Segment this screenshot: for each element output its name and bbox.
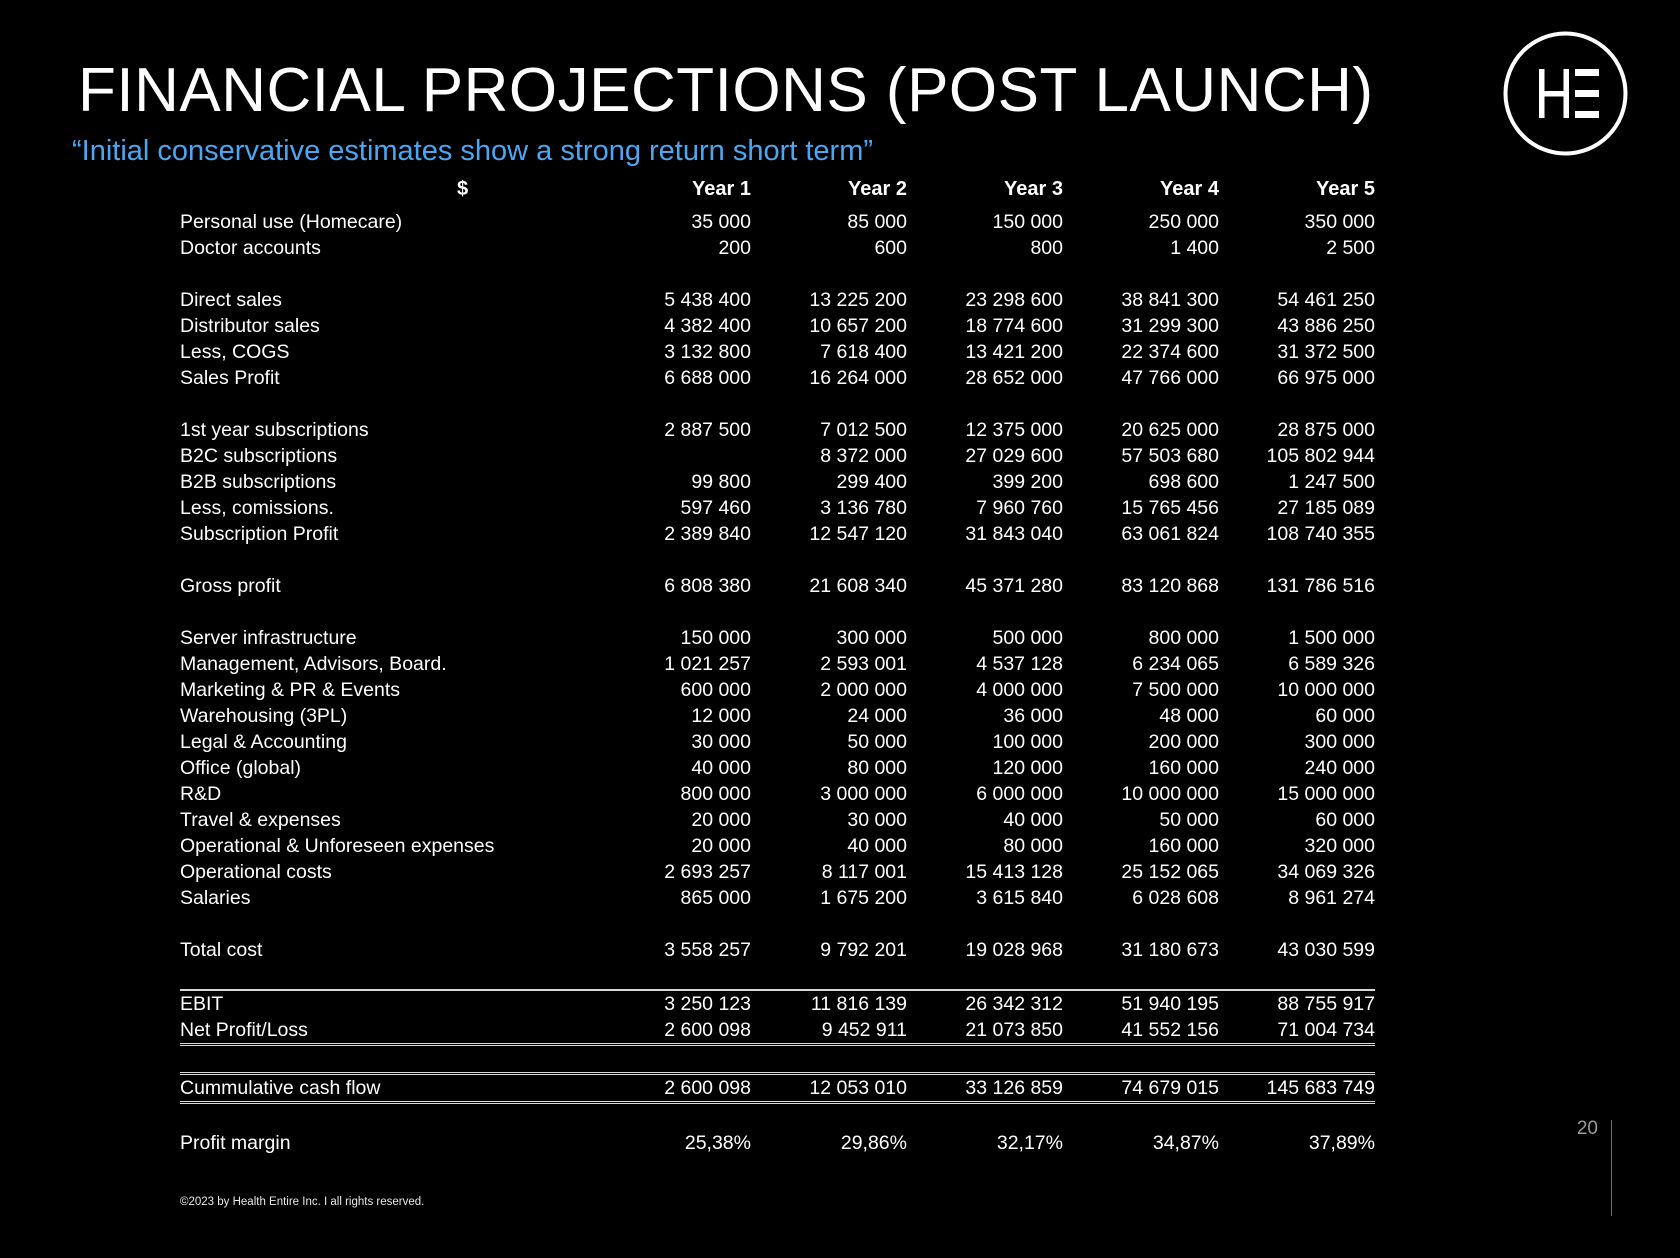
cell-year-3: 18 774 600 bbox=[907, 313, 1063, 339]
row-label: Management, Advisors, Board. bbox=[180, 651, 595, 677]
page-number-divider bbox=[1611, 1120, 1612, 1216]
table-row-operational-costs: Operational costs 2 693 257 8 117 001 15… bbox=[180, 859, 1375, 885]
table-row: Direct sales 5 438 400 13 225 200 23 298… bbox=[180, 287, 1375, 313]
row-label: Server infrastructure bbox=[180, 625, 595, 651]
cell-year-2: 7 012 500 bbox=[751, 417, 907, 443]
cell-year-1: 4 382 400 bbox=[595, 313, 751, 339]
table-row: Legal & Accounting 30 000 50 000 100 000… bbox=[180, 729, 1375, 755]
cell-year-5: 60 000 bbox=[1219, 703, 1375, 729]
cell-year-1: 3 132 800 bbox=[595, 339, 751, 365]
cell-year-3: 500 000 bbox=[907, 625, 1063, 651]
row-label: Gross profit bbox=[180, 573, 595, 599]
table-row-net-profit-loss: Net Profit/Loss 2 600 098 9 452 911 21 0… bbox=[180, 1017, 1375, 1045]
row-label: Personal use (Homecare) bbox=[180, 209, 595, 235]
row-label: Operational costs bbox=[180, 859, 595, 885]
cell-year-4: 48 000 bbox=[1063, 703, 1219, 729]
cell-year-5: 34 069 326 bbox=[1219, 859, 1375, 885]
cell-year-3: 3 615 840 bbox=[907, 885, 1063, 911]
cell-year-5: 10 000 000 bbox=[1219, 677, 1375, 703]
cell-year-5: 27 185 089 bbox=[1219, 495, 1375, 521]
cell-year-4: 31 299 300 bbox=[1063, 313, 1219, 339]
cell-year-1: 12 000 bbox=[595, 703, 751, 729]
cell-year-2: 2 593 001 bbox=[751, 651, 907, 677]
cell-year-4: 51 940 195 bbox=[1063, 990, 1219, 1017]
cell-year-4: 47 766 000 bbox=[1063, 365, 1219, 391]
column-header-year-3: Year 3 bbox=[907, 176, 1063, 209]
cell-year-1: 865 000 bbox=[595, 885, 751, 911]
cell-year-2: 9 452 911 bbox=[751, 1017, 907, 1045]
column-header-year-2: Year 2 bbox=[751, 176, 907, 209]
cell-year-4: 800 000 bbox=[1063, 625, 1219, 651]
row-label: Marketing & PR & Events bbox=[180, 677, 595, 703]
cell-year-3: 13 421 200 bbox=[907, 339, 1063, 365]
cell-year-4: 57 503 680 bbox=[1063, 443, 1219, 469]
cell-year-4: 200 000 bbox=[1063, 729, 1219, 755]
cell-year-4: 15 765 456 bbox=[1063, 495, 1219, 521]
page-number: 20 bbox=[1577, 1118, 1598, 1140]
cell-year-5: 105 802 944 bbox=[1219, 443, 1375, 469]
cell-year-3: 23 298 600 bbox=[907, 287, 1063, 313]
cell-year-2: 300 000 bbox=[751, 625, 907, 651]
cell-year-2: 2 000 000 bbox=[751, 677, 907, 703]
cell-year-3: 19 028 968 bbox=[907, 937, 1063, 963]
cell-year-5: 28 875 000 bbox=[1219, 417, 1375, 443]
cell-year-4: 6 028 608 bbox=[1063, 885, 1219, 911]
spacer-row bbox=[180, 911, 1375, 937]
cell-year-2: 10 657 200 bbox=[751, 313, 907, 339]
row-label: Cummulative cash flow bbox=[180, 1074, 595, 1103]
cell-year-5: 31 372 500 bbox=[1219, 339, 1375, 365]
column-header-year-5: Year 5 bbox=[1219, 176, 1375, 209]
table-row: Travel & expenses 20 000 30 000 40 000 5… bbox=[180, 807, 1375, 833]
row-label: Total cost bbox=[180, 937, 595, 963]
cell-year-4: 20 625 000 bbox=[1063, 417, 1219, 443]
table-row: Operational & Unforeseen expenses 20 000… bbox=[180, 833, 1375, 859]
cell-year-4: 22 374 600 bbox=[1063, 339, 1219, 365]
cell-year-2: 8 117 001 bbox=[751, 859, 907, 885]
cell-year-2: 1 675 200 bbox=[751, 885, 907, 911]
copyright-notice: ©2023 by Health Entire Inc. I all rights… bbox=[180, 1196, 424, 1208]
cell-year-2: 8 372 000 bbox=[751, 443, 907, 469]
row-label: EBIT bbox=[180, 990, 595, 1017]
row-label: Travel & expenses bbox=[180, 807, 595, 833]
spacer-row bbox=[180, 1103, 1375, 1131]
cell-year-3: 36 000 bbox=[907, 703, 1063, 729]
cell-year-4: 1 400 bbox=[1063, 235, 1219, 261]
cell-year-3: 27 029 600 bbox=[907, 443, 1063, 469]
row-label: Less, COGS bbox=[180, 339, 595, 365]
row-label: 1st year subscriptions bbox=[180, 417, 595, 443]
cell-year-1: 2 887 500 bbox=[595, 417, 751, 443]
cell-year-1: 25,38% bbox=[595, 1130, 751, 1156]
cell-year-1: 2 693 257 bbox=[595, 859, 751, 885]
cell-year-2: 16 264 000 bbox=[751, 365, 907, 391]
cell-year-5: 66 975 000 bbox=[1219, 365, 1375, 391]
table-row-gross-profit: Gross profit 6 808 380 21 608 340 45 371… bbox=[180, 573, 1375, 599]
table-row-subscription-profit: Subscription Profit 2 389 840 12 547 120… bbox=[180, 521, 1375, 547]
cell-year-1: 200 bbox=[595, 235, 751, 261]
table-row: Less, COGS 3 132 800 7 618 400 13 421 20… bbox=[180, 339, 1375, 365]
cell-year-2: 50 000 bbox=[751, 729, 907, 755]
cell-year-4: 250 000 bbox=[1063, 209, 1219, 235]
table-row: Warehousing (3PL) 12 000 24 000 36 000 4… bbox=[180, 703, 1375, 729]
table-row-salaries: Salaries 865 000 1 675 200 3 615 840 6 0… bbox=[180, 885, 1375, 911]
cell-year-5: 2 500 bbox=[1219, 235, 1375, 261]
row-label: Profit margin bbox=[180, 1130, 595, 1156]
cell-year-5: 6 589 326 bbox=[1219, 651, 1375, 677]
table-row: Doctor accounts 200 600 800 1 400 2 500 bbox=[180, 235, 1375, 261]
cell-year-2: 12 547 120 bbox=[751, 521, 907, 547]
cell-year-2: 85 000 bbox=[751, 209, 907, 235]
cell-year-3: 7 960 760 bbox=[907, 495, 1063, 521]
cell-year-4: 34,87% bbox=[1063, 1130, 1219, 1156]
table-row: Distributor sales 4 382 400 10 657 200 1… bbox=[180, 313, 1375, 339]
cell-year-4: 698 600 bbox=[1063, 469, 1219, 495]
cell-year-4: 7 500 000 bbox=[1063, 677, 1219, 703]
cell-year-3: 12 375 000 bbox=[907, 417, 1063, 443]
cell-year-2: 29,86% bbox=[751, 1130, 907, 1156]
cell-year-5: 43 030 599 bbox=[1219, 937, 1375, 963]
cell-year-3: 21 073 850 bbox=[907, 1017, 1063, 1045]
row-label: Less, comissions. bbox=[180, 495, 595, 521]
cell-year-4: 6 234 065 bbox=[1063, 651, 1219, 677]
cell-year-5: 60 000 bbox=[1219, 807, 1375, 833]
table-row-profit-margin: Profit margin 25,38% 29,86% 32,17% 34,87… bbox=[180, 1130, 1375, 1156]
spacer-row bbox=[180, 963, 1375, 990]
table-row: B2B subscriptions 99 800 299 400 399 200… bbox=[180, 469, 1375, 495]
page-title: FINANCIAL PROJECTIONS (POST LAUNCH) bbox=[78, 60, 1374, 122]
cell-year-4: 38 841 300 bbox=[1063, 287, 1219, 313]
cell-year-4: 83 120 868 bbox=[1063, 573, 1219, 599]
table-row: Less, comissions. 597 460 3 136 780 7 96… bbox=[180, 495, 1375, 521]
column-header-year-1: Year 1 bbox=[595, 176, 751, 209]
cell-year-5: 15 000 000 bbox=[1219, 781, 1375, 807]
cell-year-3: 28 652 000 bbox=[907, 365, 1063, 391]
row-label: Operational & Unforeseen expenses bbox=[180, 833, 595, 859]
column-header-unit: $ bbox=[180, 176, 595, 209]
financial-projections-table: $ Year 1 Year 2 Year 3 Year 4 Year 5 Per… bbox=[180, 176, 1375, 1156]
brand-logo bbox=[1499, 27, 1632, 160]
table-row: 1st year subscriptions 2 887 500 7 012 5… bbox=[180, 417, 1375, 443]
cell-year-1: 6 808 380 bbox=[595, 573, 751, 599]
row-label: Legal & Accounting bbox=[180, 729, 595, 755]
spacer-row bbox=[180, 391, 1375, 417]
cell-year-2: 9 792 201 bbox=[751, 937, 907, 963]
cell-year-3: 399 200 bbox=[907, 469, 1063, 495]
cell-year-3: 26 342 312 bbox=[907, 990, 1063, 1017]
row-label: R&D bbox=[180, 781, 595, 807]
cell-year-4: 25 152 065 bbox=[1063, 859, 1219, 885]
table-row: Server infrastructure 150 000 300 000 50… bbox=[180, 625, 1375, 651]
row-label: Net Profit/Loss bbox=[180, 1017, 595, 1045]
cell-year-1: 20 000 bbox=[595, 833, 751, 859]
row-label: B2B subscriptions bbox=[180, 469, 595, 495]
column-header-year-4: Year 4 bbox=[1063, 176, 1219, 209]
cell-year-2: 21 608 340 bbox=[751, 573, 907, 599]
cell-year-4: 10 000 000 bbox=[1063, 781, 1219, 807]
cell-year-4: 63 061 824 bbox=[1063, 521, 1219, 547]
cell-year-1: 597 460 bbox=[595, 495, 751, 521]
cell-year-3: 45 371 280 bbox=[907, 573, 1063, 599]
cell-year-5: 88 755 917 bbox=[1219, 990, 1375, 1017]
cell-year-3: 31 843 040 bbox=[907, 521, 1063, 547]
cell-year-4: 160 000 bbox=[1063, 833, 1219, 859]
cell-year-1: 30 000 bbox=[595, 729, 751, 755]
cell-year-1: 3 250 123 bbox=[595, 990, 751, 1017]
spacer-row bbox=[180, 599, 1375, 625]
cell-year-4: 160 000 bbox=[1063, 755, 1219, 781]
table-row: Personal use (Homecare) 35 000 85 000 15… bbox=[180, 209, 1375, 235]
cell-year-2: 30 000 bbox=[751, 807, 907, 833]
row-label: Subscription Profit bbox=[180, 521, 595, 547]
table-row: B2C subscriptions 8 372 000 27 029 600 5… bbox=[180, 443, 1375, 469]
cell-year-3: 800 bbox=[907, 235, 1063, 261]
cell-year-2: 11 816 139 bbox=[751, 990, 907, 1017]
cell-year-5: 131 786 516 bbox=[1219, 573, 1375, 599]
cell-year-4: 41 552 156 bbox=[1063, 1017, 1219, 1045]
page-subtitle: “Initial conservative estimates show a s… bbox=[72, 135, 873, 168]
cell-year-1: 1 021 257 bbox=[595, 651, 751, 677]
spacer-row bbox=[180, 547, 1375, 573]
cell-year-5: 1 247 500 bbox=[1219, 469, 1375, 495]
table-row: Management, Advisors, Board. 1 021 257 2… bbox=[180, 651, 1375, 677]
cell-year-1: 2 600 098 bbox=[595, 1074, 751, 1103]
cell-year-5: 320 000 bbox=[1219, 833, 1375, 859]
cell-year-3: 4 000 000 bbox=[907, 677, 1063, 703]
cell-year-3: 150 000 bbox=[907, 209, 1063, 235]
cell-year-1: 150 000 bbox=[595, 625, 751, 651]
cell-year-1 bbox=[595, 443, 751, 469]
cell-year-5: 1 500 000 bbox=[1219, 625, 1375, 651]
cell-year-1: 2 600 098 bbox=[595, 1017, 751, 1045]
cell-year-1: 40 000 bbox=[595, 755, 751, 781]
table-row-total-cost: Total cost 3 558 257 9 792 201 19 028 96… bbox=[180, 937, 1375, 963]
cell-year-3: 15 413 128 bbox=[907, 859, 1063, 885]
cell-year-5: 240 000 bbox=[1219, 755, 1375, 781]
cell-year-2: 3 136 780 bbox=[751, 495, 907, 521]
cell-year-5: 108 740 355 bbox=[1219, 521, 1375, 547]
cell-year-2: 3 000 000 bbox=[751, 781, 907, 807]
cell-year-1: 20 000 bbox=[595, 807, 751, 833]
cell-year-2: 12 053 010 bbox=[751, 1074, 907, 1103]
cell-year-2: 13 225 200 bbox=[751, 287, 907, 313]
table-row: Office (global) 40 000 80 000 120 000 16… bbox=[180, 755, 1375, 781]
cell-year-1: 35 000 bbox=[595, 209, 751, 235]
cell-year-5: 54 461 250 bbox=[1219, 287, 1375, 313]
cell-year-5: 37,89% bbox=[1219, 1130, 1375, 1156]
row-label: Sales Profit bbox=[180, 365, 595, 391]
cell-year-3: 120 000 bbox=[907, 755, 1063, 781]
row-label: Warehousing (3PL) bbox=[180, 703, 595, 729]
cell-year-1: 6 688 000 bbox=[595, 365, 751, 391]
cell-year-1: 5 438 400 bbox=[595, 287, 751, 313]
cell-year-1: 800 000 bbox=[595, 781, 751, 807]
cell-year-1: 2 389 840 bbox=[595, 521, 751, 547]
cell-year-5: 300 000 bbox=[1219, 729, 1375, 755]
row-label: Salaries bbox=[180, 885, 595, 911]
cell-year-4: 31 180 673 bbox=[1063, 937, 1219, 963]
cell-year-4: 74 679 015 bbox=[1063, 1074, 1219, 1103]
row-label: B2C subscriptions bbox=[180, 443, 595, 469]
cell-year-2: 24 000 bbox=[751, 703, 907, 729]
cell-year-3: 33 126 859 bbox=[907, 1074, 1063, 1103]
spacer-row bbox=[180, 1045, 1375, 1074]
cell-year-2: 299 400 bbox=[751, 469, 907, 495]
cell-year-5: 43 886 250 bbox=[1219, 313, 1375, 339]
cell-year-5: 8 961 274 bbox=[1219, 885, 1375, 911]
table-row-cumulative-cash-flow: Cummulative cash flow 2 600 098 12 053 0… bbox=[180, 1074, 1375, 1103]
cell-year-4: 50 000 bbox=[1063, 807, 1219, 833]
cell-year-3: 32,17% bbox=[907, 1130, 1063, 1156]
row-label: Distributor sales bbox=[180, 313, 595, 339]
table-row-sales-profit: Sales Profit 6 688 000 16 264 000 28 652… bbox=[180, 365, 1375, 391]
cell-year-1: 600 000 bbox=[595, 677, 751, 703]
cell-year-5: 350 000 bbox=[1219, 209, 1375, 235]
table-row: R&D 800 000 3 000 000 6 000 000 10 000 0… bbox=[180, 781, 1375, 807]
table-row: Marketing & PR & Events 600 000 2 000 00… bbox=[180, 677, 1375, 703]
cell-year-3: 40 000 bbox=[907, 807, 1063, 833]
brand-logo-icon bbox=[1499, 27, 1632, 160]
cell-year-3: 80 000 bbox=[907, 833, 1063, 859]
cell-year-1: 99 800 bbox=[595, 469, 751, 495]
cell-year-2: 600 bbox=[751, 235, 907, 261]
spacer-row bbox=[180, 261, 1375, 287]
cell-year-2: 40 000 bbox=[751, 833, 907, 859]
cell-year-2: 7 618 400 bbox=[751, 339, 907, 365]
cell-year-1: 3 558 257 bbox=[595, 937, 751, 963]
cell-year-5: 145 683 749 bbox=[1219, 1074, 1375, 1103]
cell-year-5: 71 004 734 bbox=[1219, 1017, 1375, 1045]
cell-year-2: 80 000 bbox=[751, 755, 907, 781]
cell-year-3: 4 537 128 bbox=[907, 651, 1063, 677]
cell-year-3: 6 000 000 bbox=[907, 781, 1063, 807]
row-label: Office (global) bbox=[180, 755, 595, 781]
table-row-ebit: EBIT 3 250 123 11 816 139 26 342 312 51 … bbox=[180, 990, 1375, 1017]
cell-year-3: 100 000 bbox=[907, 729, 1063, 755]
row-label: Direct sales bbox=[180, 287, 595, 313]
table-header-row: $ Year 1 Year 2 Year 3 Year 4 Year 5 bbox=[180, 176, 1375, 209]
row-label: Doctor accounts bbox=[180, 235, 595, 261]
